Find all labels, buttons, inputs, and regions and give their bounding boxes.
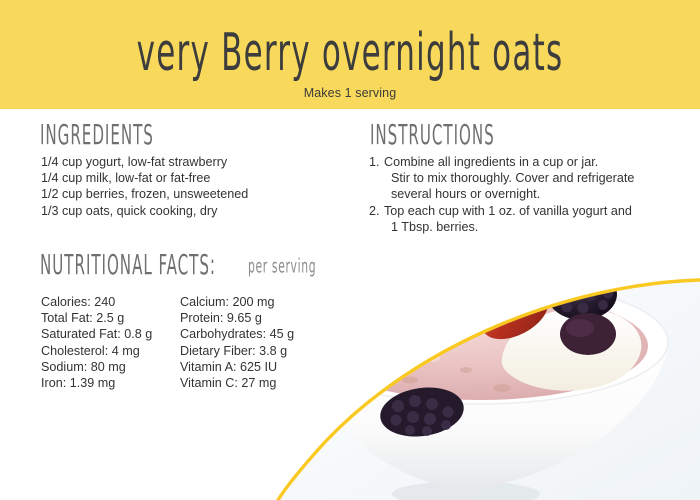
nutrition-column-left: Calories: 240 Total Fat: 2.5 g Saturated… [41, 294, 152, 391]
step-line: Stir to mix thoroughly. Cover and refrig… [384, 171, 634, 185]
list-item: Total Fat: 2.5 g [41, 310, 152, 326]
step-line: Combine all ingredients in a cup or jar. [384, 155, 598, 169]
list-item: 1/3 cup oats, quick cooking, dry [41, 203, 248, 219]
nutrition-heading-main: NUTRITIONAL FACTS: [40, 252, 216, 279]
berry-round-highlight [566, 319, 594, 337]
instructions-list: 1. Combine all ingredients in a cup or j… [369, 154, 634, 235]
page-title: very Berry overnight oats [63, 24, 637, 81]
list-item: 1/4 cup yogurt, low-fat strawberry [41, 154, 248, 170]
list-item: Cholesterol: 4 mg [41, 343, 152, 359]
list-item: 1/2 cup berries, frozen, unsweetened [41, 186, 248, 202]
ingredients-list: 1/4 cup yogurt, low-fat strawberry 1/4 c… [41, 154, 248, 219]
step-number: 1. [369, 154, 384, 170]
oatmeal-bowl-illustration [270, 262, 700, 500]
list-item: 1. Combine all ingredients in a cup or j… [369, 154, 634, 203]
instructions-heading: INSTRUCTIONS [370, 122, 495, 149]
blueberry [483, 274, 509, 294]
header-banner: very Berry overnight oats Makes 1 servin… [0, 0, 700, 109]
list-item: 1/4 cup milk, low-fat or fat-free [41, 170, 248, 186]
servings-subtitle: Makes 1 serving [0, 86, 700, 100]
step-line: Top each cup with 1 oz. of vanilla yogur… [384, 204, 632, 218]
recipe-photo [270, 262, 700, 500]
step-number: 2. [369, 203, 384, 219]
list-item: Sodium: 80 mg [41, 359, 152, 375]
list-item: Saturated Fat: 0.8 g [41, 326, 152, 342]
step-body: Combine all ingredients in a cup or jar.… [384, 154, 634, 203]
recipe-card: very Berry overnight oats Makes 1 servin… [0, 0, 700, 500]
list-item: Iron: 1.39 mg [41, 375, 152, 391]
list-item: 2. Top each cup with 1 oz. of vanilla yo… [369, 203, 634, 235]
photo-content [270, 262, 700, 500]
step-line: 1 Tbsp. berries. [384, 220, 478, 234]
step-line: several hours or overnight. [384, 187, 540, 201]
ingredients-heading: INGREDIENTS [40, 122, 154, 149]
list-item: Calories: 240 [41, 294, 152, 310]
step-body: Top each cup with 1 oz. of vanilla yogur… [384, 203, 634, 235]
